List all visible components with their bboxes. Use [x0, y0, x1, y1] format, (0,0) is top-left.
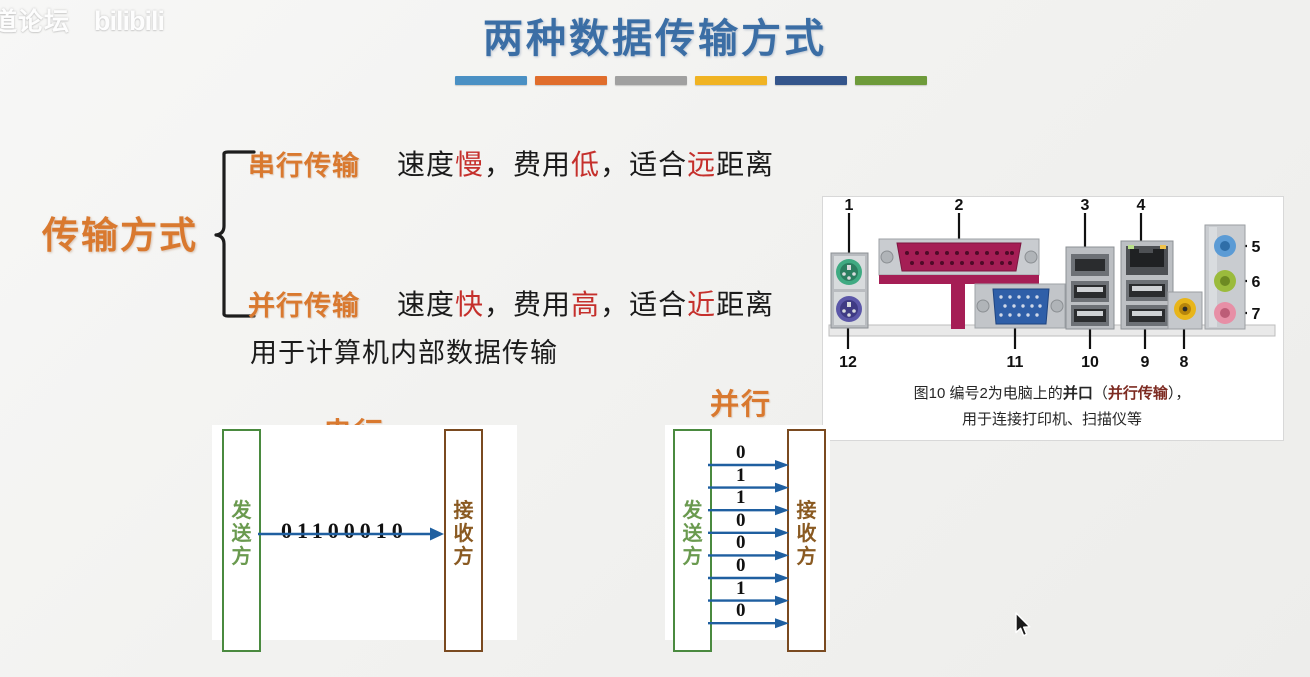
branch-desc-parallel: 速度快，费用高，适合近距离 [397, 283, 774, 323]
parallel-lane-bit-0: 0 [736, 442, 746, 464]
io-caption-paren-open: （ [1093, 385, 1108, 402]
io-caption-red: 并行传输 [1108, 385, 1168, 402]
branch-desc-serial: 速度慢，费用低，适合远距离 [397, 143, 774, 183]
branch-note-parallel: 用于计算机内部数据传输 [250, 331, 558, 370]
desc-part-0: 速度 [397, 150, 455, 181]
svg-text:12: 12 [839, 354, 857, 371]
parallel-lane-bit-7: 0 [736, 600, 746, 622]
branch-label-parallel: 并行传输 [248, 284, 360, 323]
desc-part-0: 速度 [397, 290, 455, 321]
slide-title: 两种数据传输方式 [0, 6, 1310, 64]
branch-label-serial: 串行传输 [248, 144, 360, 183]
io-caption-pre: 图10 编号2为电脑上的 [914, 385, 1063, 402]
desc-part-6: 距离 [716, 150, 774, 181]
desc-part-3: 高 [571, 290, 600, 321]
parallel-receiver-label: 接收方 [787, 500, 826, 569]
parallel-diagram-title: 并行 [710, 381, 772, 423]
tree-root-label: 传输方式 [42, 205, 198, 259]
parallel-lane-bit-2: 1 [736, 487, 746, 509]
io-caption-bold: 并口 [1063, 385, 1093, 402]
node-char: 发 [222, 500, 261, 523]
svg-text:10: 10 [1081, 354, 1099, 371]
parallel-lane-group: 01100010 [708, 440, 792, 657]
svg-text:3: 3 [1081, 197, 1090, 214]
svg-text:5: 5 [1252, 239, 1261, 256]
title-rule-bar-6 [855, 76, 927, 85]
desc-part-3: 低 [571, 150, 600, 181]
node-char: 接 [787, 500, 826, 523]
node-char: 接 [444, 500, 483, 523]
io-caption-line1: 图10 编号2为电脑上的并口（并行传输）， [824, 381, 1280, 407]
svg-text:4: 4 [1137, 197, 1146, 214]
node-char: 送 [673, 523, 712, 546]
svg-text:11: 11 [1007, 354, 1024, 371]
node-char: 方 [444, 546, 483, 569]
title-rule-bar-4 [695, 76, 767, 85]
parallel-lane-bit-4: 0 [736, 532, 746, 554]
parallel-lane-bit-6: 1 [736, 578, 746, 600]
desc-part-4: ，适合 [600, 290, 687, 321]
desc-part-1: 慢 [455, 150, 484, 181]
title-rule-bars [455, 76, 940, 88]
serial-receiver-label: 接收方 [444, 500, 483, 569]
desc-part-5: 远 [687, 150, 716, 181]
serial-arrow [258, 525, 446, 543]
mouse-cursor [1014, 612, 1034, 640]
desc-part-6: 距离 [716, 290, 774, 321]
io-caption-line2: 用于连接打印机、扫描仪等 [824, 407, 1280, 433]
parallel-lane-bit-5: 0 [736, 555, 746, 577]
svg-text:6: 6 [1252, 274, 1261, 291]
parallel-lane-bit-1: 1 [736, 465, 746, 487]
desc-part-4: ，适合 [600, 150, 687, 181]
parallel-arrows [708, 440, 792, 652]
parallel-sender-label: 发送方 [673, 500, 712, 569]
desc-part-2: ，费用 [484, 290, 571, 321]
svg-text:7: 7 [1252, 306, 1261, 323]
node-char: 方 [787, 546, 826, 569]
svg-text:8: 8 [1180, 354, 1189, 371]
node-char: 发 [673, 500, 712, 523]
svg-text:1: 1 [845, 197, 854, 214]
node-char: 送 [222, 523, 261, 546]
io-panel-caption: 图10 编号2为电脑上的并口（并行传输）， 用于连接打印机、扫描仪等 [824, 381, 1280, 433]
desc-part-2: ，费用 [484, 150, 571, 181]
svg-text:9: 9 [1141, 354, 1150, 371]
title-rule-bar-3 [615, 76, 687, 85]
title-rule-bar-5 [775, 76, 847, 85]
node-char: 收 [444, 523, 483, 546]
svg-text:2: 2 [955, 197, 964, 214]
desc-part-1: 快 [455, 290, 484, 321]
title-rule-bar-1 [455, 76, 527, 85]
node-char: 方 [222, 546, 261, 569]
parallel-lane-bit-3: 0 [736, 510, 746, 532]
desc-part-5: 近 [687, 290, 716, 321]
node-char: 收 [787, 523, 826, 546]
serial-sender-label: 发送方 [222, 500, 261, 569]
io-caption-post: ， [1175, 385, 1190, 402]
node-char: 方 [673, 546, 712, 569]
title-rule-bar-2 [535, 76, 607, 85]
